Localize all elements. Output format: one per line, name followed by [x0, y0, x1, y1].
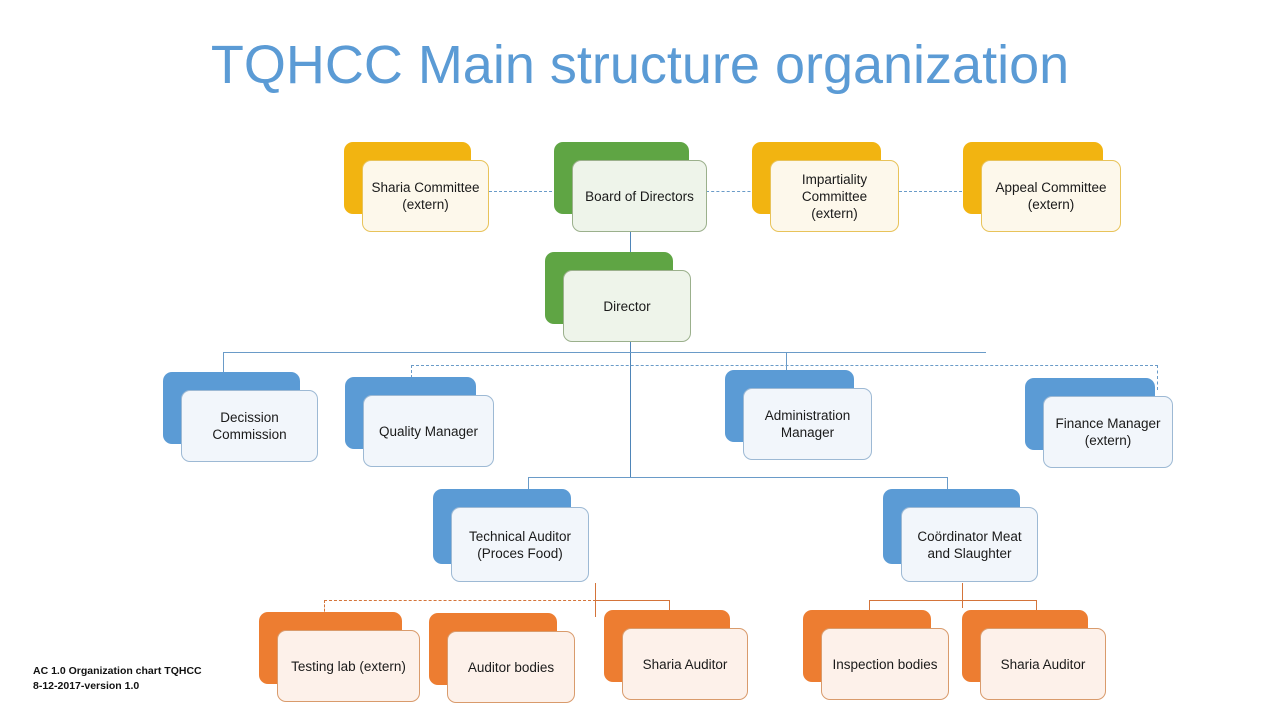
node-card: Finance Manager (extern)	[1043, 396, 1173, 468]
node-sharia-auditor-left[interactable]: Sharia Auditor	[604, 610, 730, 682]
node-technical-auditor[interactable]: Technical Auditor (Proces Food)	[433, 489, 571, 564]
node-director[interactable]: Director	[545, 252, 673, 324]
node-card: Sharia Committee (extern)	[362, 160, 489, 232]
node-auditor-bodies[interactable]: Auditor bodies	[429, 613, 557, 685]
node-administration-manager[interactable]: Administration Manager	[725, 370, 854, 442]
connector-technical-auditor-to-testing-lab	[324, 600, 596, 601]
connector-drop-finance-manager	[1157, 365, 1158, 390]
node-coordinator-meat-and-slaughter[interactable]: Coördinator Meat and Slaughter	[883, 489, 1020, 564]
node-card: Quality Manager	[363, 395, 494, 467]
node-card: Auditor bodies	[447, 631, 575, 703]
node-quality-manager[interactable]: Quality Manager	[345, 377, 476, 449]
node-card: Decission Commission	[181, 390, 318, 462]
node-finance-manager[interactable]: Finance Manager (extern)	[1025, 378, 1155, 450]
node-card: Board of Directors	[572, 160, 707, 232]
node-label: Decission Commission	[212, 409, 286, 443]
node-label: Impartiality Committee (extern)	[802, 171, 867, 222]
footer: AC 1.0 Organization chart TQHCC 8-12-201…	[33, 664, 202, 694]
node-label: Testing lab (extern)	[291, 658, 406, 675]
node-label: Sharia Auditor	[1001, 656, 1086, 673]
node-card: Sharia Auditor	[622, 628, 748, 700]
connector-manager-bus-solid	[223, 352, 986, 353]
footer-line-1: AC 1.0 Organization chart TQHCC	[33, 664, 202, 679]
node-card: Director	[563, 270, 691, 342]
node-inspection-bodies[interactable]: Inspection bodies	[803, 610, 931, 682]
node-board-of-directors[interactable]: Board of Directors	[554, 142, 689, 214]
node-card: Administration Manager	[743, 388, 872, 460]
node-label: Board of Directors	[585, 188, 694, 205]
connector-auditor-bus	[528, 477, 948, 478]
node-card: Inspection bodies	[821, 628, 949, 700]
node-label: Appeal Committee (extern)	[995, 179, 1106, 213]
node-card: Appeal Committee (extern)	[981, 160, 1121, 232]
node-label: Inspection bodies	[832, 656, 937, 673]
node-card: Coördinator Meat and Slaughter	[901, 507, 1038, 582]
connector-sharia-to-board	[489, 191, 557, 192]
node-decission-commission[interactable]: Decission Commission	[163, 372, 300, 444]
connector-coordinator-bus	[869, 600, 1037, 601]
footer-line-2: 8-12-2017-version 1.0	[33, 679, 202, 694]
node-label: Sharia Committee (extern)	[371, 179, 479, 213]
node-label: Quality Manager	[379, 423, 478, 440]
node-label: Finance Manager (extern)	[1055, 415, 1160, 449]
node-label: Auditor bodies	[468, 659, 554, 676]
node-label: Coördinator Meat and Slaughter	[917, 528, 1021, 562]
connector-coordinator-stem	[962, 583, 963, 608]
node-sharia-auditor-right[interactable]: Sharia Auditor	[962, 610, 1088, 682]
connector-manager-bus-dashed	[411, 365, 1158, 366]
node-card: Sharia Auditor	[980, 628, 1106, 700]
node-label: Technical Auditor (Proces Food)	[469, 528, 571, 562]
node-card: Impartiality Committee (extern)	[770, 160, 899, 232]
connector-drop-auditor-bodies	[595, 600, 596, 617]
node-label: Sharia Auditor	[643, 656, 728, 673]
node-sharia-committee[interactable]: Sharia Committee (extern)	[344, 142, 471, 214]
node-testing-lab[interactable]: Testing lab (extern)	[259, 612, 402, 684]
node-appeal-committee[interactable]: Appeal Committee (extern)	[963, 142, 1103, 214]
page-title: TQHCC Main structure organization	[0, 34, 1280, 96]
node-label: Administration Manager	[765, 407, 851, 441]
node-card: Technical Auditor (Proces Food)	[451, 507, 589, 582]
connector-drop-administration-manager	[786, 352, 787, 372]
node-card: Testing lab (extern)	[277, 630, 420, 702]
connector-technical-auditor-bus	[595, 600, 670, 601]
org-chart-slide: TQHCC Main structure organization Sharia…	[0, 0, 1280, 720]
node-impartiality-committee[interactable]: Impartiality Committee (extern)	[752, 142, 881, 214]
node-label: Director	[603, 298, 650, 315]
connector-director-trunk	[630, 338, 631, 477]
